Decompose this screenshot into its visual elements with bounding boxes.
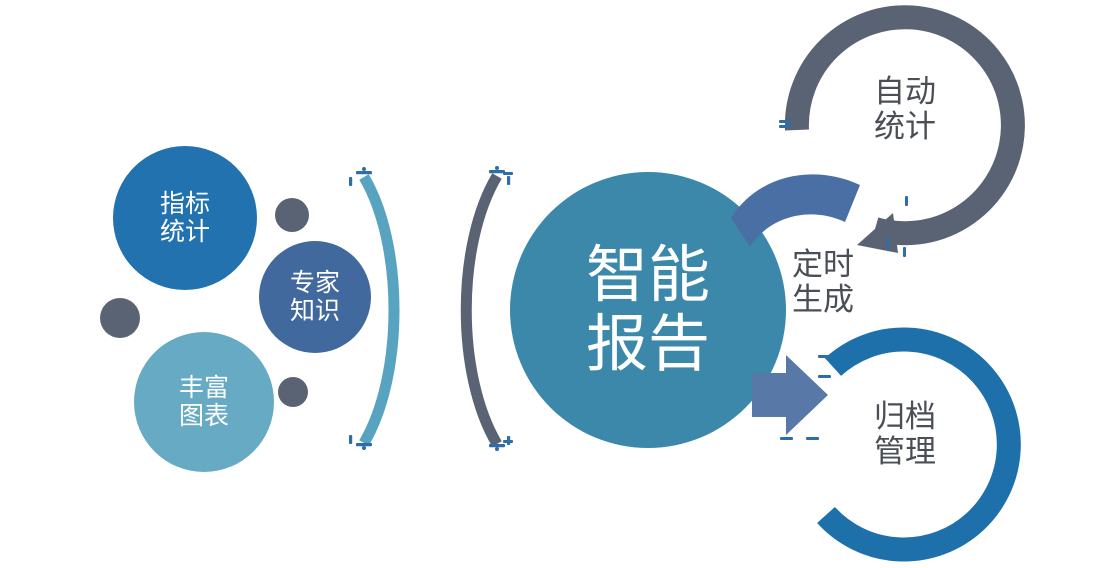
ring-auto-stats[interactable] [779, 17, 1013, 257]
accent-dot-lower [278, 377, 308, 407]
accent-dot-left [100, 298, 140, 338]
input-cluster [100, 146, 371, 472]
node-rich-charts[interactable] [134, 332, 274, 472]
accent-dot-upper [275, 198, 309, 232]
node-expert-knowledge[interactable] [259, 241, 371, 353]
bracket-group [349, 166, 513, 451]
diagram-canvas: 指标 统计 专家 知识 丰富 图表 智能 报告 自动 统计 归档 管理 定时 生… [0, 0, 1118, 568]
bracket-right-slate-icon[interactable] [466, 176, 497, 444]
ring-archive-management[interactable] [780, 340, 1009, 550]
node-metric-stats[interactable] [113, 146, 257, 290]
diagram-svg [0, 0, 1118, 568]
